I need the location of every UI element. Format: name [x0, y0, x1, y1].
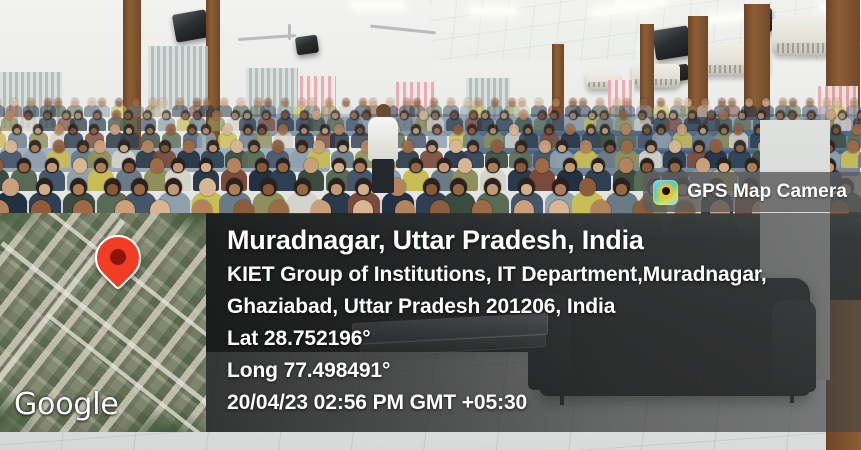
- audience-person-face: [426, 184, 437, 195]
- audience-person-face: [719, 101, 724, 106]
- ceiling-light: [470, 8, 516, 14]
- audience-person-face: [282, 101, 287, 106]
- audience-person-face: [565, 163, 574, 172]
- audience-person-face: [582, 145, 590, 152]
- audience-person-face: [11, 101, 16, 106]
- audience-person-face: [647, 145, 655, 152]
- audience-person-face: [45, 101, 50, 106]
- audience-person-face: [834, 101, 839, 106]
- audience-person-face: [221, 101, 226, 106]
- audience-person-face: [73, 184, 84, 195]
- audience-person-face: [695, 145, 703, 152]
- audience-person-face: [55, 145, 63, 152]
- audience-person: [0, 105, 5, 117]
- audience-person-face: [719, 163, 728, 172]
- timestamp-value: 20/04/23 02:56 PM GMT +05:30: [227, 387, 861, 419]
- audience-person-face: [849, 145, 857, 152]
- audience-person-face: [492, 101, 497, 106]
- audience-person-face: [521, 184, 532, 195]
- ceiling-fan-rod: [288, 24, 291, 40]
- audience-person-face: [370, 101, 375, 106]
- gps-map-camera-label: GPS Map Camera: [687, 181, 847, 203]
- audience-person-face: [75, 163, 84, 172]
- standing-person-body: [368, 117, 398, 161]
- audience-person-face: [582, 184, 593, 195]
- location-pin-icon: [95, 235, 141, 297]
- audience-person-face: [201, 163, 210, 172]
- audience-person-face: [134, 184, 145, 195]
- gps-map-camera-app-icon: [653, 180, 678, 205]
- wall-speaker: [295, 35, 319, 56]
- audience-person-face: [763, 101, 768, 106]
- audience-person-face: [150, 101, 155, 106]
- audience-person-face: [334, 163, 343, 172]
- audience-person-face: [326, 101, 331, 106]
- audience-person-face: [517, 145, 525, 152]
- address-line-1: KIET Group of Institutions, IT Departmen…: [227, 259, 861, 291]
- audience-person-face: [343, 101, 348, 106]
- latitude-value: Lat 28.752196°: [227, 323, 861, 355]
- audience-person-face: [233, 145, 241, 152]
- audience-person-face: [675, 101, 680, 106]
- audience-person-face: [297, 184, 308, 195]
- audience-person-face: [519, 101, 524, 106]
- audience-person-face: [238, 101, 243, 106]
- map-thumbnail[interactable]: Google: [0, 213, 206, 432]
- audience-person-face: [265, 101, 270, 106]
- audience-person-face: [747, 163, 756, 172]
- audience-person-face: [431, 101, 436, 106]
- audience-person-face: [641, 101, 646, 106]
- audience-person-face: [807, 101, 812, 106]
- audience-person-face: [202, 184, 213, 195]
- audience-person-face: [185, 145, 193, 152]
- audience-person-face: [257, 163, 266, 172]
- audience-person-face: [55, 101, 60, 106]
- audience-person-face: [161, 145, 169, 152]
- audience-person-face: [553, 101, 558, 106]
- standing-person-legs: [372, 159, 394, 193]
- audience-person-face: [298, 145, 306, 152]
- gps-map-camera-watermark: GPS Map Camera: [643, 172, 861, 212]
- audience-person-face: [358, 184, 369, 195]
- audience-person-face: [278, 163, 287, 172]
- audience-person-face: [780, 101, 785, 106]
- audience-person-face: [89, 101, 94, 106]
- audience-person-face: [439, 163, 448, 172]
- ceiling-light: [352, 2, 404, 9]
- audience-person-face: [671, 145, 679, 152]
- audience-person-face: [5, 184, 16, 195]
- photo-canvas: GPS Map Camera Google Muradnagar, Uttar …: [0, 0, 861, 450]
- audience-person-face: [96, 145, 104, 152]
- longitude-value: Long 77.498491°: [227, 355, 861, 387]
- audience-person-face: [404, 145, 412, 152]
- audience-person-face: [452, 145, 460, 152]
- audience-person-face: [168, 184, 179, 195]
- audience-person-face: [31, 145, 39, 152]
- audience-person-face: [469, 145, 477, 152]
- audience-person-face: [616, 184, 627, 195]
- audience-person-face: [448, 101, 453, 106]
- audience-person-face: [331, 184, 342, 195]
- audience-person-face: [411, 163, 420, 172]
- audience-person-face: [428, 145, 436, 152]
- audience-person-face: [623, 145, 631, 152]
- audience-person-face: [160, 101, 165, 106]
- audience-person-face: [624, 101, 629, 106]
- geotag-stamp-overlay: Google Muradnagar, Uttar Pradesh, India …: [0, 213, 861, 432]
- audience-person-face: [558, 145, 566, 152]
- audience-person-face: [670, 163, 679, 172]
- audience-person-face: [606, 145, 614, 152]
- audience-person-face: [250, 145, 258, 152]
- geotag-text-panel: Muradnagar, Uttar Pradesh, India KIET Gr…: [206, 213, 861, 432]
- google-watermark: Google: [14, 387, 119, 422]
- audience-person-face: [360, 101, 365, 106]
- audience-person-face: [355, 163, 364, 172]
- audience-person-face: [475, 101, 480, 106]
- audience-person-face: [570, 101, 575, 106]
- audience-person-face: [536, 101, 541, 106]
- audience-person-face: [729, 101, 734, 106]
- audience-person-face: [133, 101, 138, 106]
- audience-person-face: [28, 101, 33, 106]
- audience-person-face: [642, 163, 651, 172]
- audience-person-face: [555, 184, 566, 195]
- audience-person-face: [404, 101, 409, 106]
- audience-person-face: [493, 145, 501, 152]
- audience-person-face: [19, 163, 28, 172]
- audience-person-face: [851, 101, 856, 106]
- audience-person-face: [306, 163, 315, 172]
- audience-person-face: [209, 145, 217, 152]
- audience-person-face: [339, 145, 347, 152]
- audience-person-face: [229, 163, 238, 172]
- audience-person-face: [698, 163, 707, 172]
- audience-person-face: [712, 145, 720, 152]
- audience-person-face: [79, 145, 87, 152]
- audience-person-face: [597, 101, 602, 106]
- audience-person-face: [263, 184, 274, 195]
- audience-person-face: [116, 101, 121, 106]
- audience-person-face: [7, 145, 15, 152]
- audience-person-face: [453, 184, 464, 195]
- audience-person-face: [790, 101, 795, 106]
- audience-person-face: [39, 184, 50, 195]
- audience-person-face: [460, 163, 469, 172]
- audience-person-face: [124, 163, 133, 172]
- audience-person-face: [614, 101, 619, 106]
- audience-person-face: [621, 163, 630, 172]
- audience-person-face: [488, 163, 497, 172]
- audience-person-face: [107, 184, 118, 195]
- audience-person-face: [204, 101, 209, 106]
- address-line-2: Ghaziabad, Uttar Pradesh 201206, India: [227, 291, 861, 323]
- audience-person-face: [746, 101, 751, 106]
- audience-person-face: [72, 101, 77, 106]
- ceiling-light: [616, 0, 666, 5]
- audience-person-face: [255, 101, 260, 106]
- audience-person-face: [509, 101, 514, 106]
- audience-person-face: [152, 163, 161, 172]
- wall-speaker: [652, 25, 692, 60]
- audience-person-face: [824, 101, 829, 106]
- audience-person-face: [299, 101, 304, 106]
- audience-person-face: [315, 145, 323, 152]
- audience-person-face: [274, 145, 282, 152]
- audience-person-face: [465, 101, 470, 106]
- audience-person-face: [658, 101, 663, 106]
- audience-person-face: [144, 145, 152, 152]
- audience-person-face: [593, 163, 602, 172]
- audience-person-face: [99, 101, 104, 106]
- audience-person-face: [516, 163, 525, 172]
- audience-person-face: [96, 163, 105, 172]
- audience-person-face: [309, 101, 314, 106]
- audience-person-face: [487, 184, 498, 195]
- audience-person-face: [537, 163, 546, 172]
- audience-person-face: [685, 101, 690, 106]
- audience-person-face: [120, 145, 128, 152]
- audience-person-face: [194, 101, 199, 106]
- audience-person-face: [229, 184, 240, 195]
- audience-person-face: [736, 145, 744, 152]
- audience-person-face: [541, 145, 549, 152]
- audience-person-face: [414, 101, 419, 106]
- audience-person-face: [702, 101, 707, 106]
- audience-person-face: [47, 163, 56, 172]
- audience-person-face: [177, 101, 182, 106]
- wall-speaker: [172, 9, 210, 42]
- place-title: Muradnagar, Uttar Pradesh, India: [227, 222, 861, 258]
- audience-person-face: [173, 163, 182, 172]
- audience-person-face: [580, 101, 585, 106]
